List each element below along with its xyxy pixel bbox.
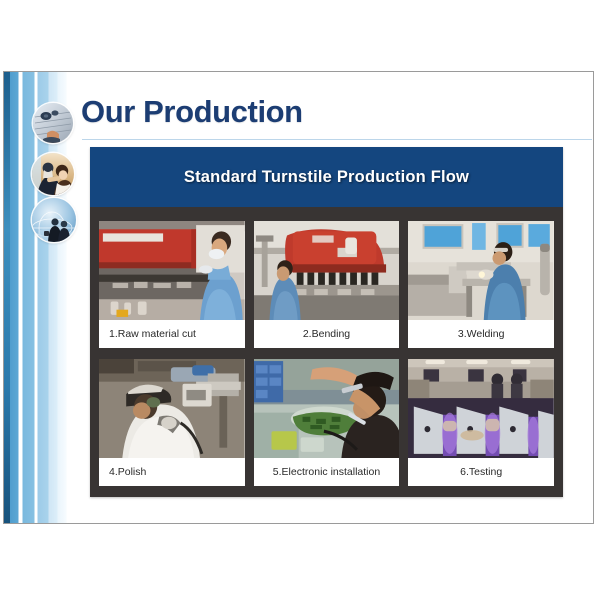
step-5-caption: 5.Electronic installation [254, 458, 400, 486]
process-step-6[interactable]: 6.Testing [408, 359, 554, 486]
machinery-photo-bubble [33, 103, 73, 143]
process-step-5[interactable]: 5.Electronic installation [254, 359, 400, 486]
process-step-grid: 1.Raw material cut [90, 207, 563, 497]
step-6-photo [408, 359, 554, 458]
process-step-3[interactable]: 3.Welding [408, 221, 554, 348]
globe-walkers-photo-bubble [32, 198, 76, 242]
panel-header-bar: Standard Turnstile Production Flow [90, 147, 563, 207]
step-1-caption: 1.Raw material cut [99, 320, 245, 348]
presentation-slide: Our Production Standard Turnstile Produc… [3, 71, 594, 524]
step-3-photo [408, 221, 554, 320]
step-2-caption: 2.Bending [254, 320, 400, 348]
step-6-caption: 6.Testing [408, 458, 554, 486]
step-2-photo [254, 221, 400, 320]
step-4-caption: 4.Polish [99, 458, 245, 486]
page-title: Our Production [81, 94, 303, 130]
step-1-photo [99, 221, 245, 320]
process-step-4[interactable]: 4.Polish [99, 359, 245, 486]
process-step-1[interactable]: 1.Raw material cut [99, 221, 245, 348]
panel-header-title: Standard Turnstile Production Flow [184, 168, 469, 187]
handshake-photo-bubble [32, 153, 74, 195]
title-divider [82, 139, 592, 140]
step-5-photo [254, 359, 400, 458]
production-flow-panel: Standard Turnstile Production Flow [90, 147, 563, 497]
step-3-caption: 3.Welding [408, 320, 554, 348]
step-4-photo [99, 359, 245, 458]
process-step-2[interactable]: 2.Bending [254, 221, 400, 348]
screenshot-canvas: Our Production Standard Turnstile Produc… [0, 0, 600, 600]
